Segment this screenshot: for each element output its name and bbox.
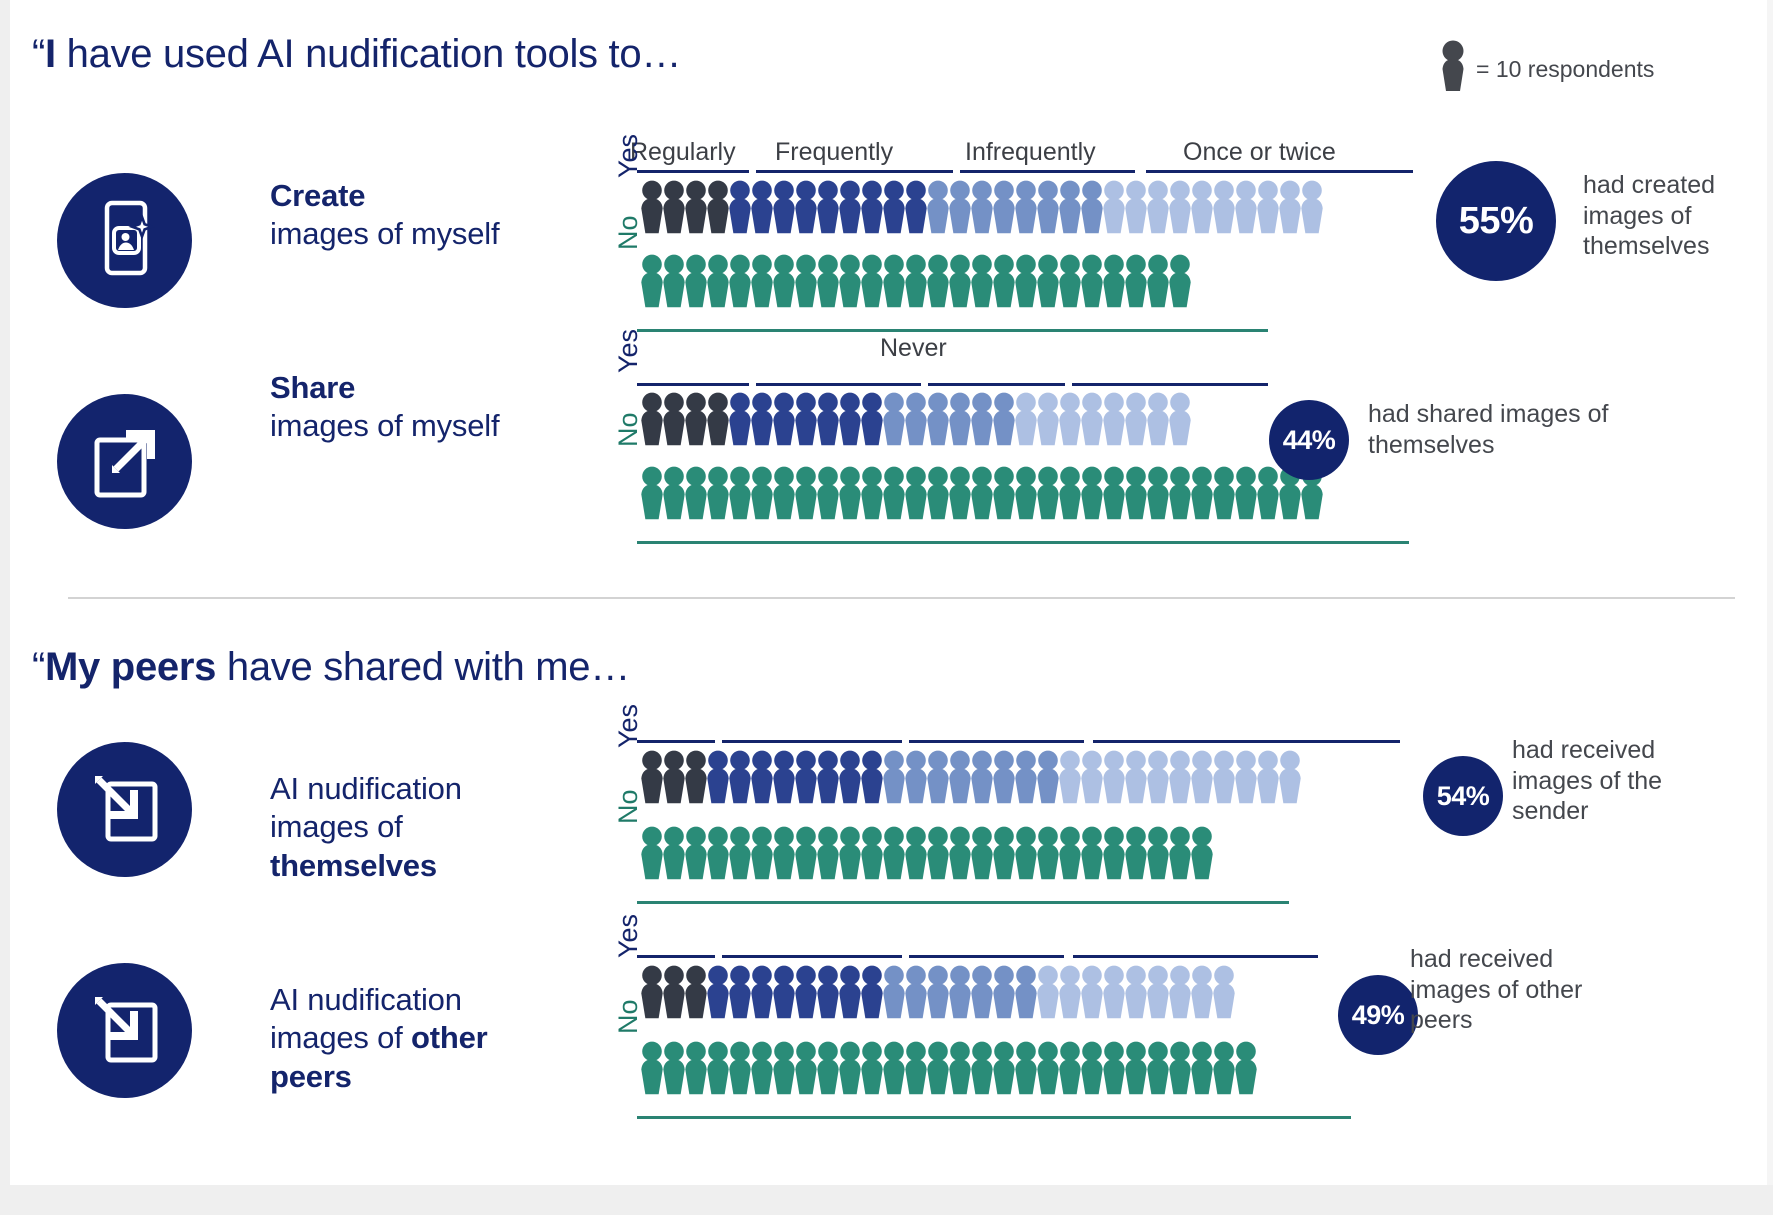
person-figure xyxy=(706,826,730,880)
person-figure xyxy=(860,750,884,804)
pictogram-received-themselves-yes xyxy=(640,750,1300,804)
person-figure xyxy=(706,1041,730,1095)
person-figure xyxy=(926,392,950,446)
person-figure xyxy=(1058,180,1082,234)
pictogram-figure xyxy=(1146,965,1170,1019)
badge-text-share: had shared images of themselves xyxy=(1368,399,1668,460)
pictogram-figure xyxy=(794,254,818,308)
pictogram-figure xyxy=(948,826,972,880)
person-figure xyxy=(948,254,972,308)
pictogram-figure xyxy=(992,965,1016,1019)
person-figure xyxy=(1102,392,1126,446)
row-label-share-bold: Share xyxy=(270,370,355,405)
pictogram-figure xyxy=(926,466,950,520)
person-figure xyxy=(640,254,664,308)
person-figure xyxy=(1014,750,1038,804)
pictogram-figure xyxy=(1080,1041,1104,1095)
pictogram-figure xyxy=(640,1041,664,1095)
person-figure xyxy=(1080,254,1104,308)
pictogram-share-yes xyxy=(640,392,1190,446)
pictogram-figure xyxy=(948,392,972,446)
person-figure xyxy=(640,826,664,880)
pictogram-figure xyxy=(640,750,664,804)
axis-label-yes-received-other-peers: Yes xyxy=(613,914,644,958)
person-figure xyxy=(1168,965,1192,1019)
person-figure xyxy=(926,826,950,880)
person-figure xyxy=(1256,180,1280,234)
image-sparkle-icon xyxy=(88,199,162,282)
pictogram-figure xyxy=(640,180,664,234)
pictogram-figure xyxy=(772,466,796,520)
pictogram-figure xyxy=(1058,180,1082,234)
category-header-regularly: Regularly xyxy=(630,138,736,167)
segment-rule-once-create xyxy=(1146,170,1413,173)
person-figure xyxy=(662,180,686,234)
pictogram-figure xyxy=(640,466,664,520)
person-figure xyxy=(1278,180,1302,234)
person-figure xyxy=(904,254,928,308)
pictogram-figure xyxy=(750,826,774,880)
pictogram-figure xyxy=(640,254,664,308)
pictogram-figure xyxy=(1190,750,1214,804)
person-figure xyxy=(1102,466,1126,520)
person-figure xyxy=(948,466,972,520)
person-figure xyxy=(684,180,708,234)
pictogram-figure xyxy=(816,750,840,804)
person-figure xyxy=(1080,750,1104,804)
segment-rule-once-received-other-peers xyxy=(1073,955,1318,958)
person-figure xyxy=(860,466,884,520)
person-figure xyxy=(1102,965,1126,1019)
pictogram-figure xyxy=(904,392,928,446)
pictogram-figure xyxy=(816,254,840,308)
person-figure xyxy=(1036,466,1060,520)
never-label-create: Never xyxy=(880,334,947,363)
person-figure xyxy=(926,750,950,804)
infographic-page: “I have used AI nudification tools to… =… xyxy=(0,0,1773,1215)
pictogram-figure xyxy=(772,826,796,880)
person-figure xyxy=(860,1041,884,1095)
pictogram-figure xyxy=(750,466,774,520)
person-figure xyxy=(750,180,774,234)
pictogram-figure xyxy=(1212,466,1236,520)
pictogram-figure xyxy=(926,392,950,446)
person-figure xyxy=(1058,826,1082,880)
pictogram-figure xyxy=(1102,466,1126,520)
never-rule-share xyxy=(637,541,1409,544)
person-figure xyxy=(662,392,686,446)
row-label-received-themselves: AI nudification images of themselves xyxy=(270,770,530,885)
person-figure xyxy=(1058,750,1082,804)
segment-rule-regularly-received-themselves xyxy=(637,740,715,743)
person-figure xyxy=(948,1041,972,1095)
person-figure xyxy=(1190,965,1214,1019)
person-figure xyxy=(1014,466,1038,520)
pictogram-figure xyxy=(728,254,752,308)
pictogram-figure xyxy=(772,392,796,446)
segment-rule-once-received-themselves xyxy=(1093,740,1400,743)
pictogram-figure xyxy=(1036,1041,1060,1095)
person-figure xyxy=(838,965,862,1019)
pictogram-figure xyxy=(970,466,994,520)
pictogram-figure xyxy=(684,466,708,520)
pictogram-figure xyxy=(1036,392,1060,446)
person-figure xyxy=(838,254,862,308)
person-figure xyxy=(1168,392,1192,446)
pictogram-figure xyxy=(728,826,752,880)
pictogram-figure xyxy=(1102,750,1126,804)
headline-bold-1: I xyxy=(45,32,56,76)
person-figure xyxy=(1036,392,1060,446)
person-figure xyxy=(1168,1041,1192,1095)
pictogram-figure xyxy=(970,254,994,308)
person-figure xyxy=(684,826,708,880)
pictogram-figure xyxy=(794,1041,818,1095)
person-figure xyxy=(948,392,972,446)
pictogram-figure xyxy=(926,750,950,804)
pictogram-figure xyxy=(1080,826,1104,880)
pictogram-figure xyxy=(1168,180,1192,234)
pictogram-figure xyxy=(970,965,994,1019)
pictogram-figure xyxy=(1168,254,1192,308)
person-figure xyxy=(750,254,774,308)
person-figure xyxy=(838,1041,862,1095)
person-figure xyxy=(1036,965,1060,1019)
pictogram-figure xyxy=(1146,750,1170,804)
person-figure xyxy=(860,826,884,880)
person-figure xyxy=(1124,180,1148,234)
person-figure xyxy=(838,750,862,804)
pictogram-figure xyxy=(1146,254,1170,308)
person-figure xyxy=(1124,392,1148,446)
person-figure xyxy=(882,466,906,520)
legend: = 10 respondents xyxy=(1440,40,1654,98)
person-figure xyxy=(1190,466,1214,520)
row-label-received-other-peers: AI nudification images of other peers xyxy=(270,981,530,1096)
person-figure xyxy=(1102,750,1126,804)
pictogram-figure xyxy=(750,1041,774,1095)
pictogram-figure xyxy=(684,1041,708,1095)
pictogram-figure xyxy=(1080,254,1104,308)
badge-create: 55% xyxy=(1436,161,1556,281)
pictogram-figure xyxy=(1146,826,1170,880)
pictogram-figure xyxy=(948,180,972,234)
row-label-received-themselves-bold: themselves xyxy=(270,848,437,883)
person-figure xyxy=(1256,750,1280,804)
pictogram-figure xyxy=(706,254,730,308)
person-figure xyxy=(816,254,840,308)
person-figure xyxy=(706,965,730,1019)
pictogram-figure xyxy=(706,392,730,446)
badge-text-received-themselves: had received images of the sender xyxy=(1512,735,1712,827)
pictogram-figure xyxy=(1168,392,1192,446)
person-figure xyxy=(992,826,1016,880)
person-figure xyxy=(1234,466,1258,520)
segment-rule-regularly-share xyxy=(637,383,749,386)
person-figure xyxy=(816,1041,840,1095)
person-figure xyxy=(904,466,928,520)
person-figure xyxy=(904,180,928,234)
pictogram-figure xyxy=(838,180,862,234)
pictogram-figure xyxy=(640,826,664,880)
pictogram-figure xyxy=(838,254,862,308)
pictogram-figure xyxy=(1190,180,1214,234)
pictogram-figure xyxy=(706,180,730,234)
pictogram-figure xyxy=(1014,180,1038,234)
pictogram-figure xyxy=(926,254,950,308)
pictogram-figure xyxy=(706,1041,730,1095)
person-figure xyxy=(1212,180,1236,234)
person-figure xyxy=(992,965,1016,1019)
pictogram-figure xyxy=(1146,392,1170,446)
person-figure xyxy=(728,750,752,804)
pictogram-figure xyxy=(750,392,774,446)
person-figure xyxy=(1146,750,1170,804)
person-figure xyxy=(1014,392,1038,446)
pictogram-figure xyxy=(706,750,730,804)
person-figure xyxy=(662,750,686,804)
pictogram-figure xyxy=(926,1041,950,1095)
segment-rule-frequently-share xyxy=(756,383,921,386)
person-figure xyxy=(882,750,906,804)
person-figure xyxy=(860,180,884,234)
pictogram-figure xyxy=(816,826,840,880)
person-figure xyxy=(684,965,708,1019)
pictogram-figure xyxy=(860,965,884,1019)
segment-rule-frequently-received-themselves xyxy=(722,740,902,743)
pictogram-figure xyxy=(838,1041,862,1095)
person-figure xyxy=(750,965,774,1019)
person-figure xyxy=(860,965,884,1019)
pictogram-figure xyxy=(882,392,906,446)
person-figure xyxy=(750,826,774,880)
pictogram-figure xyxy=(706,826,730,880)
person-figure xyxy=(728,254,752,308)
pictogram-figure xyxy=(1190,1041,1214,1095)
pictogram-figure xyxy=(750,750,774,804)
pictogram-figure xyxy=(1080,180,1104,234)
person-figure xyxy=(1146,1041,1170,1095)
receive-inbound-icon xyxy=(86,989,164,1072)
pictogram-figure xyxy=(728,466,752,520)
person-figure xyxy=(1146,392,1170,446)
pictogram-figure xyxy=(1234,466,1258,520)
person-figure xyxy=(904,826,928,880)
person-figure xyxy=(1124,750,1148,804)
pictogram-figure xyxy=(904,1041,928,1095)
pictogram-figure xyxy=(1190,965,1214,1019)
pictogram-figure xyxy=(728,965,752,1019)
pictogram-figure xyxy=(772,965,796,1019)
pictogram-figure xyxy=(1190,466,1214,520)
pictogram-figure xyxy=(1256,180,1280,234)
pictogram-figure xyxy=(1146,1041,1170,1095)
row-label-create: Create images of myself xyxy=(270,177,500,254)
pictogram-figure xyxy=(992,826,1016,880)
person-figure xyxy=(860,392,884,446)
pictogram-figure xyxy=(1014,750,1038,804)
pictogram-figure xyxy=(816,180,840,234)
pictogram-figure xyxy=(772,750,796,804)
person-figure xyxy=(948,180,972,234)
pictogram-figure xyxy=(1036,826,1060,880)
pictogram-figure xyxy=(992,392,1016,446)
pictogram-figure xyxy=(728,392,752,446)
person-figure xyxy=(970,826,994,880)
pictogram-figure xyxy=(816,392,840,446)
pictogram-figure xyxy=(1102,965,1126,1019)
person-figure xyxy=(838,392,862,446)
person-figure xyxy=(1256,466,1280,520)
pictogram-figure xyxy=(640,392,664,446)
pictogram-figure xyxy=(1058,826,1082,880)
pictogram-figure xyxy=(948,466,972,520)
pictogram-figure xyxy=(1212,180,1236,234)
pictogram-figure xyxy=(860,180,884,234)
pictogram-figure xyxy=(662,1041,686,1095)
person-figure xyxy=(948,750,972,804)
person-figure xyxy=(794,392,818,446)
segment-rule-frequently-create xyxy=(756,170,953,173)
pictogram-figure xyxy=(1256,750,1280,804)
pictogram-figure xyxy=(860,254,884,308)
person-figure xyxy=(926,180,950,234)
person-figure xyxy=(1234,180,1258,234)
person-figure xyxy=(794,965,818,1019)
person-figure xyxy=(640,1041,664,1095)
segment-rule-regularly-received-other-peers xyxy=(637,955,715,958)
person-figure xyxy=(1146,180,1170,234)
pictogram-figure xyxy=(1124,826,1148,880)
segment-rule-infrequently-share xyxy=(928,383,1065,386)
pictogram-figure xyxy=(904,254,928,308)
person-figure xyxy=(970,392,994,446)
pictogram-figure xyxy=(992,466,1016,520)
person-figure xyxy=(970,180,994,234)
person-figure xyxy=(1124,466,1148,520)
person-figure xyxy=(860,254,884,308)
pictogram-figure xyxy=(1124,466,1148,520)
person-figure xyxy=(1080,466,1104,520)
person-figure xyxy=(1190,826,1214,880)
person-figure xyxy=(816,466,840,520)
pictogram-figure xyxy=(860,466,884,520)
pictogram-figure xyxy=(838,826,862,880)
pictogram-figure xyxy=(1036,254,1060,308)
pictogram-figure xyxy=(750,180,774,234)
person-figure xyxy=(882,826,906,880)
person-figure xyxy=(970,466,994,520)
person-figure xyxy=(948,826,972,880)
pictogram-figure xyxy=(684,965,708,1019)
person-figure xyxy=(1190,1041,1214,1095)
person-figure xyxy=(772,965,796,1019)
person-figure xyxy=(970,1041,994,1095)
person-figure xyxy=(926,254,950,308)
pictogram-figure xyxy=(794,392,818,446)
pictogram-figure xyxy=(772,1041,796,1095)
row-label-share: Share images of myself xyxy=(270,369,500,446)
person-figure xyxy=(684,1041,708,1095)
pictogram-figure xyxy=(794,750,818,804)
person-figure xyxy=(706,254,730,308)
person-figure xyxy=(1036,826,1060,880)
person-figure xyxy=(684,254,708,308)
pictogram-figure xyxy=(904,466,928,520)
pictogram-figure xyxy=(1080,392,1104,446)
pictogram-figure xyxy=(1168,1041,1192,1095)
person-figure xyxy=(728,392,752,446)
person-figure xyxy=(706,466,730,520)
person-figure xyxy=(1146,826,1170,880)
pictogram-figure xyxy=(1278,180,1302,234)
pictogram-create-yes xyxy=(640,180,1322,234)
pictogram-figure xyxy=(1102,826,1126,880)
person-figure xyxy=(882,180,906,234)
pictogram-figure xyxy=(1124,1041,1148,1095)
headline-quote-1: “ xyxy=(32,32,45,76)
section-divider xyxy=(68,597,1735,599)
person-figure xyxy=(794,1041,818,1095)
pictogram-figure xyxy=(794,965,818,1019)
receive-inbound-icon xyxy=(86,768,164,851)
person-figure xyxy=(1080,180,1104,234)
pictogram-figure xyxy=(1124,254,1148,308)
person-figure xyxy=(882,1041,906,1095)
pictogram-figure xyxy=(662,180,686,234)
person-figure xyxy=(728,180,752,234)
person-figure xyxy=(1168,466,1192,520)
pictogram-figure xyxy=(948,750,972,804)
pictogram-figure xyxy=(1146,180,1170,234)
pictogram-figure xyxy=(662,392,686,446)
person-figure xyxy=(750,466,774,520)
person-figure xyxy=(1058,965,1082,1019)
person-figure xyxy=(1190,750,1214,804)
pictogram-figure xyxy=(904,826,928,880)
pictogram-figure xyxy=(1212,750,1236,804)
person-figure xyxy=(1102,1041,1126,1095)
badge-text-received-other-peers: had received images of other peers xyxy=(1410,944,1620,1036)
person-figure xyxy=(1124,1041,1148,1095)
person-figure xyxy=(1014,254,1038,308)
pictogram-figure xyxy=(1102,254,1126,308)
person-figure xyxy=(728,965,752,1019)
pictogram-figure xyxy=(860,826,884,880)
pictogram-figure xyxy=(1036,466,1060,520)
row-icon-received-other-peers xyxy=(57,963,192,1098)
person-figure xyxy=(882,965,906,1019)
person-figure xyxy=(1168,254,1192,308)
person-figure xyxy=(684,750,708,804)
pictogram-figure xyxy=(1014,392,1038,446)
person-figure xyxy=(926,466,950,520)
never-rule-received-themselves xyxy=(637,901,1289,904)
section-1-headline: “I have used AI nudification tools to… xyxy=(32,32,681,77)
segment-rule-infrequently-create xyxy=(960,170,1135,173)
pictogram-figure xyxy=(882,466,906,520)
person-figure xyxy=(772,1041,796,1095)
pictogram-received-other-peers-no xyxy=(640,1041,1256,1095)
person-figure xyxy=(904,965,928,1019)
person-figure xyxy=(992,1041,1016,1095)
person-figure xyxy=(794,750,818,804)
pictogram-figure xyxy=(1036,750,1060,804)
person-figure xyxy=(1212,750,1236,804)
person-figure xyxy=(882,392,906,446)
pictogram-figure xyxy=(904,180,928,234)
pictogram-figure xyxy=(1234,1041,1258,1095)
